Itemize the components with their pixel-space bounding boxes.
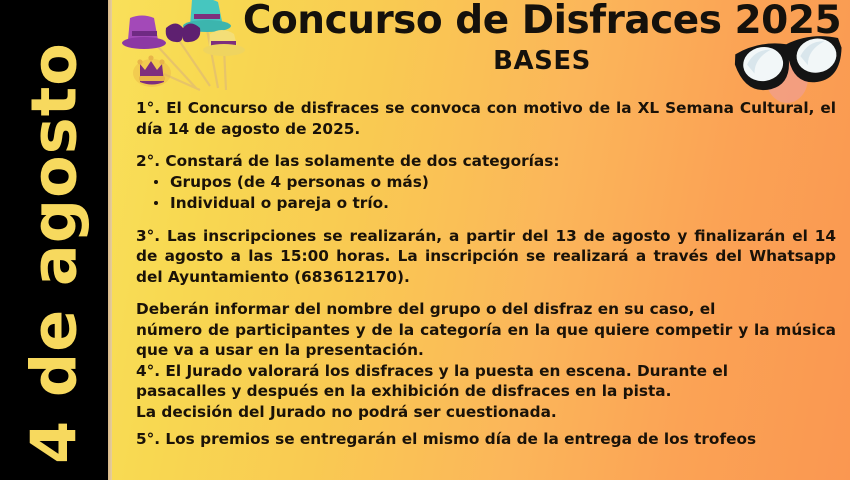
poster-main-panel: Concurso de Disfraces 2025 BASES 1°. El … [112,0,850,480]
sidebar-date-label: 4 de agosto [18,42,91,438]
sidebar-date-band: 4 de agosto [0,0,108,480]
rule-3-note-line-1: Deberán informar del nombre del grupo o … [136,299,836,320]
rule-4-line-3: La decisión del Jurado no podrá ser cues… [136,402,836,423]
rule-1: 1°. El Concurso de disfraces se convoca … [136,98,836,139]
bullet-dot-icon [154,201,158,205]
rule-2-heading: 2°. Constará de las solamente de dos cat… [136,151,836,172]
rule-3-note-line-2: número de participantes y de la categorí… [136,320,836,361]
rule-5-clipped: 5°. Los premios se entregarán el mismo d… [136,429,836,450]
rule-4-line-2: pasacalles y después en la exhibición de… [136,381,836,402]
list-item-label: Individual o pareja o trío. [170,194,389,212]
rules-body: 1°. El Concurso de disfraces se convoca … [136,98,836,450]
list-item: Individual o pareja o trío. [154,193,836,214]
page-title: Concurso de Disfraces 2025 [212,0,850,44]
list-item-label: Grupos (de 4 personas o más) [170,173,429,191]
rule-2-category-list: Grupos (de 4 personas o más) Individual … [136,172,836,214]
page-subtitle: BASES [212,46,850,76]
rule-3: 3°. Las inscripciones se realizarán, a p… [136,226,836,288]
list-item: Grupos (de 4 personas o más) [154,172,836,193]
costume-contest-poster: 4 de agosto [0,0,850,480]
rule-4-line-1: 4°. El Jurado valorará los disfraces y l… [136,361,836,382]
bullet-dot-icon [154,180,158,184]
